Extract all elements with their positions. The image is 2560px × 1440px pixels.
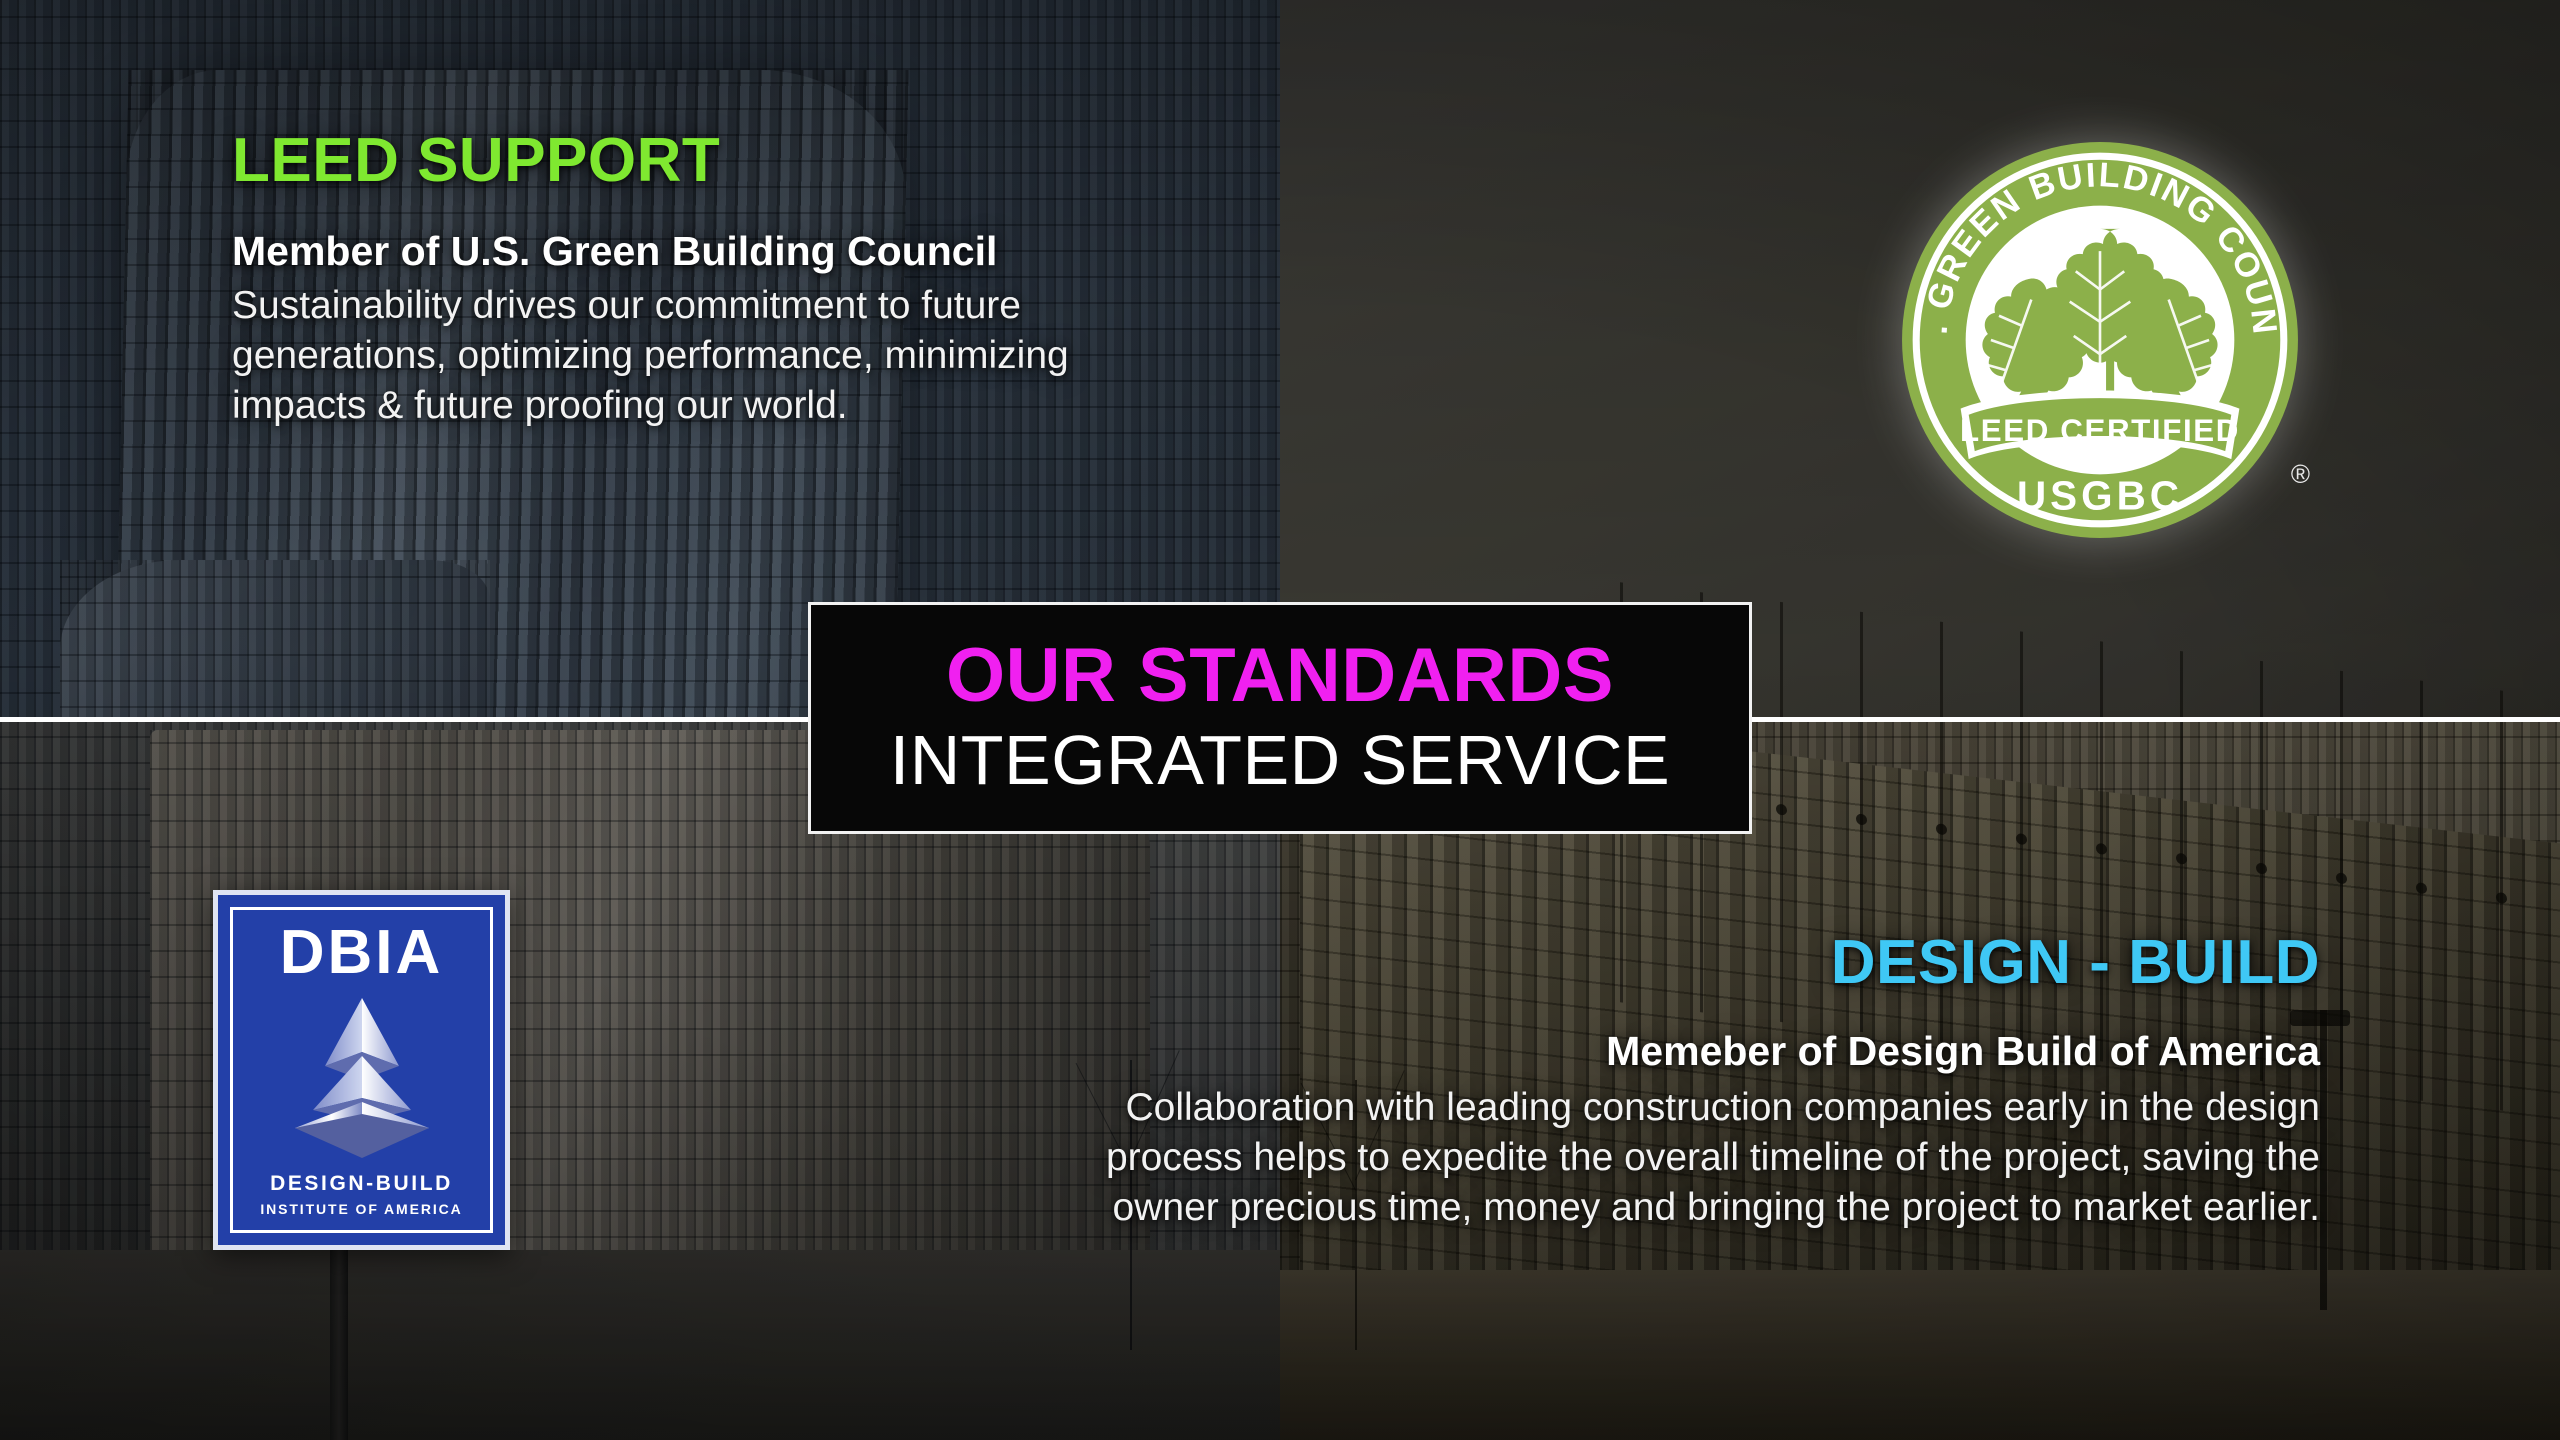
design-build-body-line-2: process helps to expedite the overall ti… — [700, 1133, 2320, 1183]
design-build-body-line-1: Collaboration with leading construction … — [700, 1083, 2320, 1133]
usgbc-ribbon-text: LEED CERTIFIED — [1960, 413, 2240, 448]
usgbc-leed-certified-seal: U.S. GREEN BUILDING COUNCIL — [1898, 138, 2302, 542]
street-lamp — [2320, 1010, 2327, 1310]
dbia-line-1: DESIGN-BUILD — [270, 1172, 453, 1196]
leed-support-body-line-1: Sustainability drives our commitment to … — [232, 281, 1432, 331]
leed-support-body-line-3: impacts & future proofing our world. — [232, 381, 1432, 431]
leed-support-heading: LEED SUPPORT — [232, 128, 1432, 193]
dbia-line-2: INSTITUTE OF AMERICA — [260, 1201, 462, 1217]
leed-support-body-line-2: generations, optimizing performance, min… — [232, 331, 1432, 381]
design-build-body-line-3: owner precious time, money and bringing … — [700, 1183, 2320, 1233]
plaza-ground-left — [0, 1250, 1280, 1440]
leed-support-block: LEED SUPPORT Member of U.S. Green Buildi… — [232, 128, 1432, 431]
design-build-subheading: Memeber of Design Build of America — [700, 1029, 2320, 1075]
dbia-inner-frame: DBIA — [230, 907, 493, 1233]
banner-subtitle: INTEGRATED SERVICE — [890, 724, 1670, 798]
leed-support-subheading: Member of U.S. Green Building Council — [232, 229, 1432, 275]
our-standards-banner: OUR STANDARDS INTEGRATED SERVICE — [808, 602, 1752, 834]
sign-post — [330, 1250, 348, 1440]
dbia-wordmark: DBIA — [280, 922, 444, 984]
dbia-placard: DBIA — [213, 890, 510, 1250]
registered-trademark-icon: ® — [2291, 459, 2310, 490]
design-build-heading: DESIGN - BUILD — [700, 930, 2320, 995]
tower-podium-top-left — [60, 560, 490, 720]
dbia-pyramid-icon — [273, 994, 451, 1162]
design-build-block: DESIGN - BUILD Memeber of Design Build o… — [700, 930, 2320, 1233]
usgbc-bottom-text: USGBC — [2017, 473, 2183, 519]
banner-title: OUR STANDARDS — [946, 638, 1614, 714]
standards-banner-graphic: LEED SUPPORT Member of U.S. Green Buildi… — [0, 0, 2560, 1440]
plaza-ground-right — [1280, 1270, 2560, 1440]
podium-glass-texture — [60, 560, 490, 720]
